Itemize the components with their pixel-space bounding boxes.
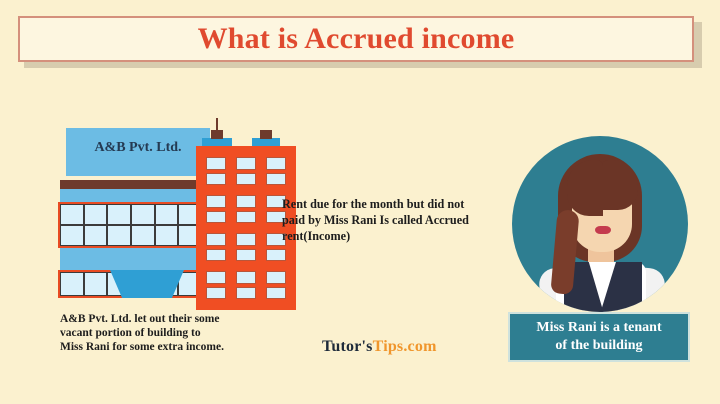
building-caption-line-3: Miss Rani for some extra income. bbox=[60, 340, 310, 354]
explanation-line-3: rent(Income) bbox=[282, 228, 508, 244]
window-cell bbox=[155, 204, 179, 225]
site-logo: Tutor'sTips.com bbox=[322, 338, 437, 356]
tower-window bbox=[234, 193, 258, 225]
window-cell bbox=[60, 204, 84, 225]
window-cell bbox=[107, 225, 131, 246]
tower-window bbox=[234, 269, 258, 301]
tower-window bbox=[204, 193, 228, 225]
tenant-caption-line-1: Miss Rani is a tenant bbox=[536, 319, 661, 337]
tower-window bbox=[264, 155, 288, 187]
window-cell bbox=[60, 225, 84, 246]
tower-window bbox=[234, 155, 258, 187]
window-cell bbox=[84, 204, 108, 225]
building-sign-label: A&B Pvt. Ltd. bbox=[70, 140, 206, 156]
explanation-line-2: paid by Miss Rani Is called Accrued bbox=[282, 212, 508, 228]
rooftop-block bbox=[260, 130, 272, 139]
tower-window bbox=[264, 269, 288, 301]
page-title: What is Accrued income bbox=[198, 22, 515, 56]
building-brown-band bbox=[60, 180, 210, 189]
hair-front-left bbox=[567, 160, 603, 216]
tenant-caption-box: Miss Rani is a tenant of the building bbox=[508, 312, 690, 362]
window-cell bbox=[155, 225, 179, 246]
window-cell bbox=[107, 204, 131, 225]
tenant-illustration: Miss Rani is a tenant of the building bbox=[512, 136, 690, 312]
tower-window bbox=[234, 231, 258, 263]
rooftop-block bbox=[211, 130, 223, 139]
antenna-icon bbox=[216, 118, 218, 131]
building-caption-line-2: vacant portion of building to bbox=[60, 326, 310, 340]
lips bbox=[595, 226, 611, 234]
apartment-tower-red bbox=[196, 146, 296, 310]
window-cell bbox=[84, 225, 108, 246]
window-cell bbox=[84, 272, 108, 296]
window-cell bbox=[131, 204, 155, 225]
avatar-circle bbox=[512, 136, 688, 312]
tower-window bbox=[204, 269, 228, 301]
rooftop-base bbox=[202, 138, 232, 146]
window-cell bbox=[60, 272, 84, 296]
tower-window bbox=[204, 231, 228, 263]
window-cell bbox=[131, 225, 155, 246]
rooftop-unit-right bbox=[252, 130, 280, 146]
tower-window bbox=[204, 155, 228, 187]
building-window-grid bbox=[58, 202, 204, 248]
hair-front-right bbox=[602, 160, 638, 210]
tenant-caption-line-2: of the building bbox=[536, 337, 661, 355]
explanation-text: Rent due for the month but did not paid … bbox=[282, 196, 508, 244]
logo-part-tutors: Tutor's bbox=[322, 338, 373, 355]
slide-canvas: What is Accrued income A&B Pvt. Ltd. bbox=[0, 0, 720, 404]
rooftop-unit-left bbox=[202, 126, 232, 146]
logo-part-tips: Tips.com bbox=[373, 338, 437, 355]
title-box: What is Accrued income bbox=[18, 16, 694, 62]
building-caption: A&B Pvt. Ltd. let out their some vacant … bbox=[60, 312, 310, 354]
office-building-blue: A&B Pvt. Ltd. bbox=[60, 128, 210, 310]
building-caption-line-1: A&B Pvt. Ltd. let out their some bbox=[60, 312, 310, 326]
building-illustration: A&B Pvt. Ltd. bbox=[60, 128, 300, 310]
explanation-line-1: Rent due for the month but did not bbox=[282, 196, 508, 212]
rooftop-base bbox=[252, 138, 280, 146]
tenant-caption: Miss Rani is a tenant of the building bbox=[536, 319, 661, 355]
tower-window-grid bbox=[204, 155, 288, 301]
